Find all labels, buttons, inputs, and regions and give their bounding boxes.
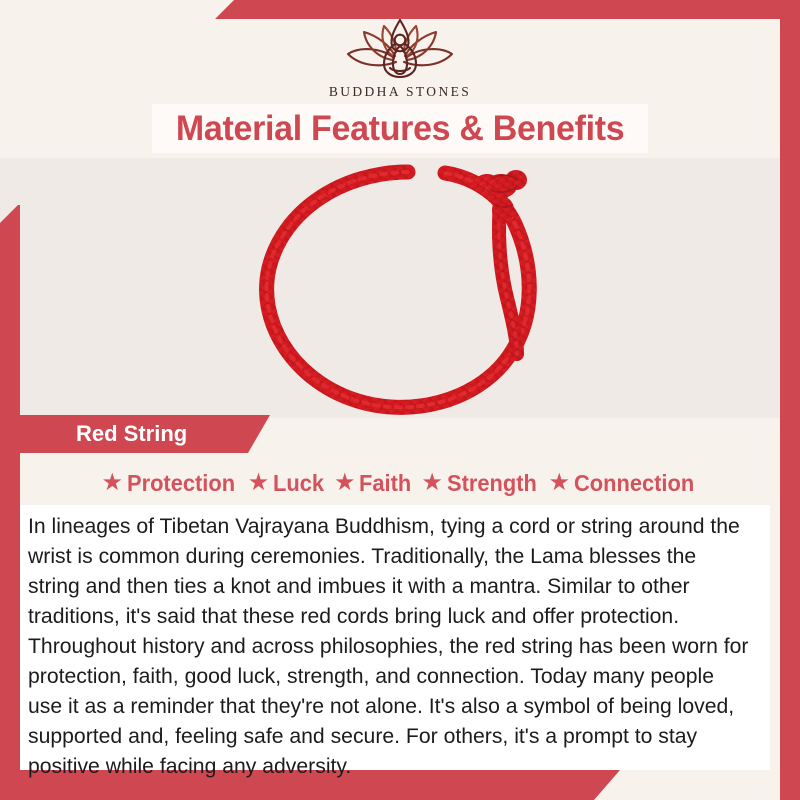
feature-label-faith: Faith: [359, 470, 411, 497]
lotus-meditation-icon: [338, 16, 462, 82]
feature-item-strength: ★ Strength: [421, 470, 541, 497]
feature-item-connection: ★ Connection: [548, 470, 700, 497]
product-description: In lineages of Tibetan Vajrayana Buddhis…: [28, 511, 749, 781]
product-name-banner: Red String: [20, 415, 270, 453]
feature-label-strength: Strength: [447, 470, 537, 497]
feature-item-protection: ★ Protection: [101, 470, 240, 497]
product-infographic: BUDDHA STONES Material Features & Benefi…: [0, 0, 800, 800]
title-panel: Material Features & Benefits: [152, 104, 648, 153]
decorative-bar-right: [780, 0, 800, 800]
description-panel: In lineages of Tibetan Vajrayana Buddhis…: [20, 505, 770, 770]
star-icon: ★: [334, 471, 356, 495]
star-icon: ★: [101, 471, 123, 495]
feature-item-luck: ★ Luck: [248, 470, 327, 497]
feature-item-faith: ★ Faith: [334, 470, 414, 497]
star-icon: ★: [248, 471, 270, 495]
product-name: Red String: [76, 421, 187, 447]
feature-label-protection: Protection: [127, 470, 235, 497]
product-photo: [20, 158, 780, 420]
feature-label-connection: Connection: [574, 470, 694, 497]
star-icon: ★: [421, 471, 443, 495]
brand-logo: BUDDHA STONES: [0, 16, 800, 100]
decorative-bar-left-upper: [0, 205, 20, 432]
feature-label-luck: Luck: [273, 470, 324, 497]
star-icon: ★: [548, 471, 570, 495]
red-string-bracelet-image: [225, 158, 585, 420]
feature-list: ★ Protection ★ Luck ★ Faith ★ Strength ★…: [20, 466, 782, 500]
decorative-bar-left-lower: [0, 432, 20, 800]
brand-wordmark: BUDDHA STONES: [0, 84, 800, 100]
page-title: Material Features & Benefits: [176, 109, 624, 149]
bracelet-knot: [475, 170, 527, 223]
